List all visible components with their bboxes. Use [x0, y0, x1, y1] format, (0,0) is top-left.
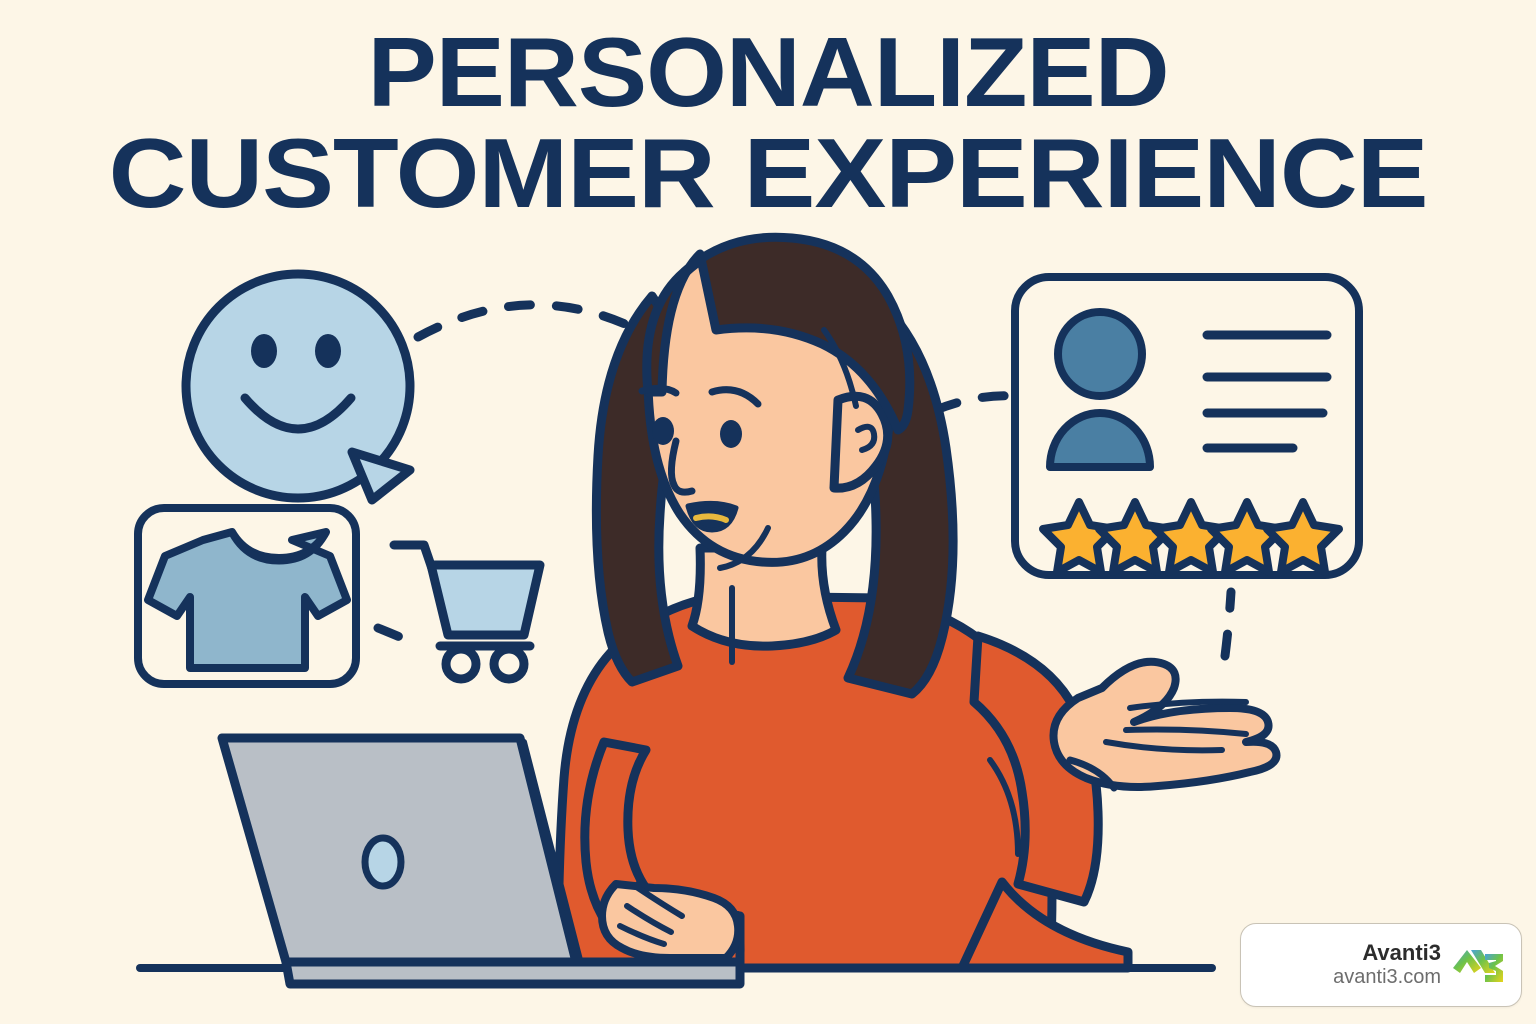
- star-5: [1267, 502, 1339, 572]
- customer-illustration: [558, 237, 1276, 970]
- profile-detail-lines: [1207, 335, 1327, 448]
- scene-artwork: .ink { stroke:#15325b; fill:none; stroke…: [0, 0, 1536, 1024]
- tshirt-product-tile: [138, 508, 356, 684]
- connector-person-to-profile-card: [936, 396, 1014, 410]
- smiley-speech-bubble: [186, 274, 410, 500]
- laptop-logo-icon: [365, 838, 401, 886]
- badge-brand-name: Avanti3: [1362, 940, 1441, 966]
- smiley-eye-right: [315, 334, 341, 368]
- cart-wheel-right: [494, 649, 524, 679]
- shopping-cart: [378, 545, 540, 679]
- connector-cart-to-person: [378, 628, 416, 644]
- eye-left: [652, 417, 674, 445]
- badge-url: avanti3.com: [1333, 966, 1441, 990]
- eye-right: [720, 420, 742, 448]
- customer-profile-card: [1015, 277, 1359, 575]
- avanti3-badge[interactable]: Avanti3 avanti3.com: [1240, 923, 1522, 1007]
- avatar: [1050, 312, 1150, 467]
- illustration-canvas: PERSONALIZED CUSTOMER EXPERIENCE .ink { …: [0, 0, 1536, 1024]
- connector-smiley-to-person: [418, 305, 636, 337]
- avanti3-logo-icon: [1451, 940, 1507, 990]
- connector-hand-to-profile-card: [1225, 592, 1231, 656]
- badge-text-group: Avanti3 avanti3.com: [1333, 940, 1441, 989]
- rating-stars: [1043, 502, 1339, 572]
- smiley-eye-left: [251, 334, 277, 368]
- cart-wheel-left: [446, 649, 476, 679]
